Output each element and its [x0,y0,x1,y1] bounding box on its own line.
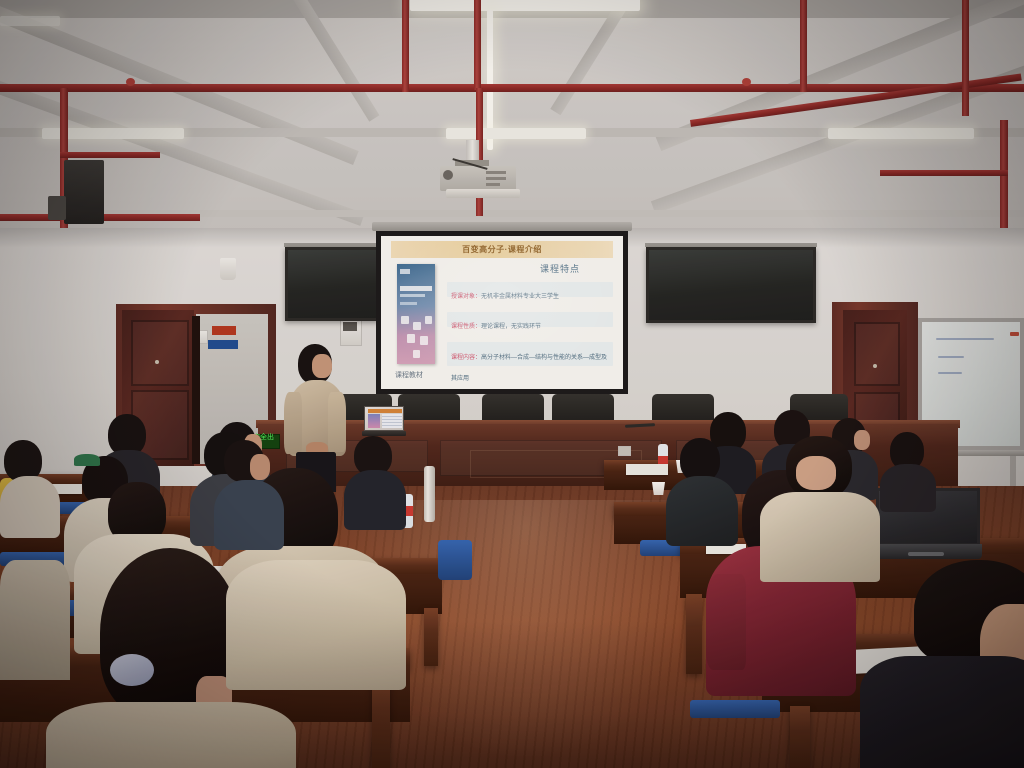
slide-title-bar: 百变高分子·课程介绍 [391,241,613,258]
book-author-line [400,302,417,305]
audience-person-knit [226,520,406,680]
screen-roller-housing [372,222,632,231]
slide-textbook-cover [397,264,435,364]
slide-bullet-2-label: 课程性质： [451,324,481,330]
door-left-panel-upper [131,320,189,386]
sprinkler-head-left [126,78,135,86]
sprinkler-head-right [742,78,751,86]
presentation-slide: 百变高分子·课程介绍 课程特点 课程教材 授课对象：无机非金属材料专业大三学生 [381,236,623,389]
whiteboard-leg-right [1010,456,1016,490]
audience-person-green [60,420,120,480]
audience-burgundy-arm [706,574,746,670]
wall-speaker-left [64,160,104,224]
wall-speaker-left-bracket [48,196,66,220]
audience-right-beige-hand [796,456,836,490]
book-figure-6 [413,350,420,358]
ceiling [0,0,1024,236]
sprinkler-pipe-riser-2 [474,0,481,90]
audience-l4-torso [0,476,60,538]
whiteboard-writing-2 [938,356,964,358]
book-title-line [400,286,432,291]
projector-vent-3 [486,183,500,186]
projector-vent-2 [486,177,506,180]
presenter-laptop-notes [382,414,402,428]
book-publisher-strip [400,269,410,274]
audience-person-far-right [860,560,1024,768]
audience-person-r4 [880,432,936,498]
whiteboard-writing-3 [938,372,962,374]
audience-r4-torso [880,464,936,512]
desk-foreground-right-leg [790,706,810,768]
audience-glasses2-face [250,454,270,480]
blackboard-left [285,247,379,321]
thermos-flask[interactable] [424,466,435,522]
presenter [284,344,348,484]
audience-foreground-scrunchie [110,654,154,686]
slide-bullet-2-text: 理论课程，无实践环节 [481,324,541,330]
book-figure-4 [407,334,415,343]
presenter-laptop-screen [364,406,404,431]
sprinkler-pipe-riser-4 [962,0,969,116]
audience-person-l4 [0,440,60,530]
audience-laptop-trackpad[interactable] [908,552,944,556]
slide-bullet-3: 课程内容：高分子材料—合成—结构与性能的关系—成型及其应用 [447,342,613,366]
projector-vent-1 [486,171,506,174]
classroom-photo: 百变高分子·课程介绍 课程特点 课程教材 授课对象：无机非金属材料专业大三学生 [0,0,1024,768]
sprinkler-pipe-main [0,84,1024,92]
door-right-knob[interactable] [873,364,877,368]
blackboard-right [646,247,816,323]
audience-far-right-jacket [860,656,1024,768]
slide-bullet-1-text: 无机非金属材料专业大三学生 [481,294,559,300]
audience-green-collar [74,454,100,466]
book-figure-5 [420,336,428,345]
presenter-laptop[interactable] [362,406,406,436]
sprinkler-pipe-right-spur [880,170,1008,176]
audience-foreground-coat [46,702,296,768]
slide-bullet-1-label: 授课对象： [451,294,481,300]
door-right-panel-upper [854,322,900,386]
sprinkler-pipe-riser-1 [402,0,409,92]
ceiling-light-right [828,128,974,139]
slide-title: 百变高分子·课程介绍 [462,244,542,255]
projection-screen[interactable]: 百变高分子·课程介绍 课程特点 课程教材 授课对象：无机非金属材料专业大三学生 [376,231,628,394]
desk-right-row1-leg [686,594,702,674]
desk-center-left-leg2 [424,608,438,666]
doorway-sign-red [212,326,236,335]
presenter-laptop-titlebar [368,409,402,413]
sprinkler-pipe-left-spur [60,152,160,158]
whiteboard-writing-1 [936,338,994,340]
ceiling-light-top-center [410,0,640,11]
door-left-knob[interactable] [155,360,159,364]
ceiling-light-far-left [0,16,60,26]
sprinkler-pipe-riser-3 [800,0,807,92]
book-figure-3 [425,316,432,324]
audience-knit-sweater [226,560,406,690]
slide-book-caption: 课程教材 [395,370,423,380]
handout-right[interactable] [626,464,668,475]
chair-center-aisle[interactable] [438,540,472,580]
presenter-face [312,354,332,378]
podium-outlet[interactable] [618,446,631,456]
audience-person-glasses2 [214,440,284,530]
slide-bullet-3-label: 课程内容： [451,355,481,361]
slide-bullet-1: 授课对象：无机非金属材料专业大三学生 [447,282,613,297]
doorway-sign-blue [208,340,238,349]
paper-cup-right-2[interactable] [652,482,665,495]
slide-bullet-2: 课程性质：理论课程，无实践环节 [447,312,613,327]
wall-control-panel-screen [343,322,357,331]
audience-person-edge-left [0,560,70,680]
projector-housing [446,189,520,198]
book-figure-2 [413,322,421,330]
whiteboard-marker[interactable] [1010,332,1019,336]
projector-lens [443,170,453,180]
book-subtitle-line [400,294,425,297]
presenter-arm-left [284,392,302,454]
smoke-detector [220,258,236,280]
presenter-laptop-slide-thumb [368,414,380,428]
audience-edge-left-torso [0,560,70,680]
ceiling-light-center [446,128,586,139]
audience-person-right-beige [760,436,880,556]
book-figure-1 [401,316,409,324]
slide-heading: 课程特点 [501,262,619,275]
audience-right-beige-torso [760,492,880,582]
chair-foreground-right[interactable] [690,700,780,718]
